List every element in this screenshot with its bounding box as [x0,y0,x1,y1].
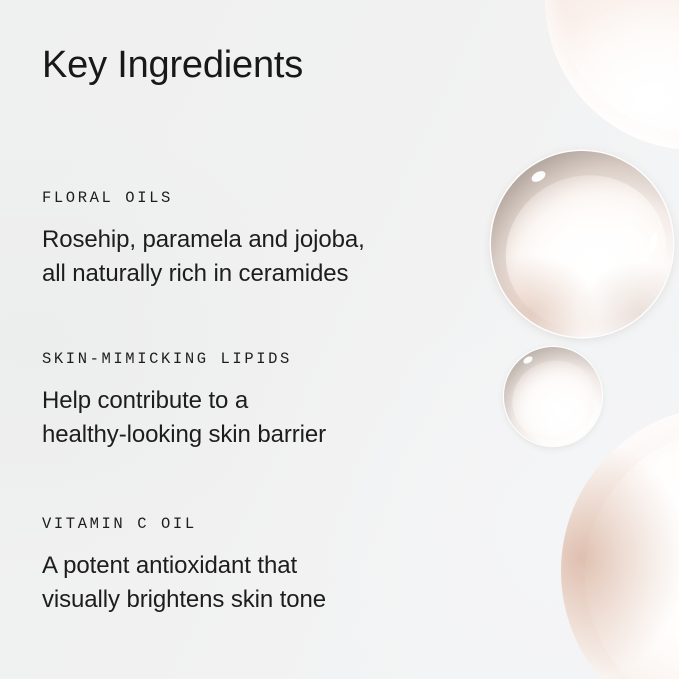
ingredient-label-floral-oils: FLORAL OILS [42,189,512,207]
droplet-bottom-right [561,406,679,679]
key-ingredients-card: Key Ingredients FLORAL OILS Rosehip, par… [0,0,679,679]
droplet-reflection-streak [536,392,588,452]
ingredient-section-floral-oils: FLORAL OILS Rosehip, paramela and jojoba… [42,189,512,291]
ingredient-label-skin-mimicking-lipids: SKIN-MIMICKING LIPIDS [42,350,512,368]
ingredient-description-line: A potent antioxidant that [42,549,512,583]
droplet-large-center-highlight-top [530,169,547,184]
droplet-large-center-rim-glow [491,151,673,337]
ingredient-description-floral-oils: Rosehip, paramela and jojoba, all natura… [42,223,512,291]
ingredient-section-skin-mimicking-lipids: SKIN-MIMICKING LIPIDS Help contribute to… [42,350,512,452]
droplet-top-right-highlight [531,0,679,157]
ingredient-description-line: Rosehip, paramela and jojoba, [42,223,512,257]
ingredient-section-vitamin-c-oil: VITAMIN C OIL A potent antioxidant that … [42,515,512,617]
page-title: Key Ingredients [42,44,303,88]
droplet-small-light-pool [500,348,607,453]
ingredient-description-line: Help contribute to a [42,384,512,418]
ingredient-description-skin-mimicking-lipids: Help contribute to a healthy-looking ski… [42,384,512,452]
droplet-bottom-right-rim-arc [561,406,679,679]
droplet-small [504,347,602,446]
droplet-top-right [517,0,679,178]
ingredient-description-vitamin-c-oil: A potent antioxidant that visually brigh… [42,549,512,617]
ingredient-description-line: all naturally rich in ceramides [42,257,512,291]
droplet-bottom-right-light-pool [585,430,679,679]
droplet-large-center [491,151,673,337]
droplet-large-center-highlight-right [648,232,659,252]
content-column: Key Ingredients FLORAL OILS Rosehip, par… [42,0,512,679]
ingredient-label-vitamin-c-oil: VITAMIN C OIL [42,515,512,533]
ingredient-description-line: healthy-looking skin barrier [42,418,512,452]
droplet-small-highlight [522,355,534,365]
ingredient-description-line: visually brightens skin tone [42,583,512,617]
